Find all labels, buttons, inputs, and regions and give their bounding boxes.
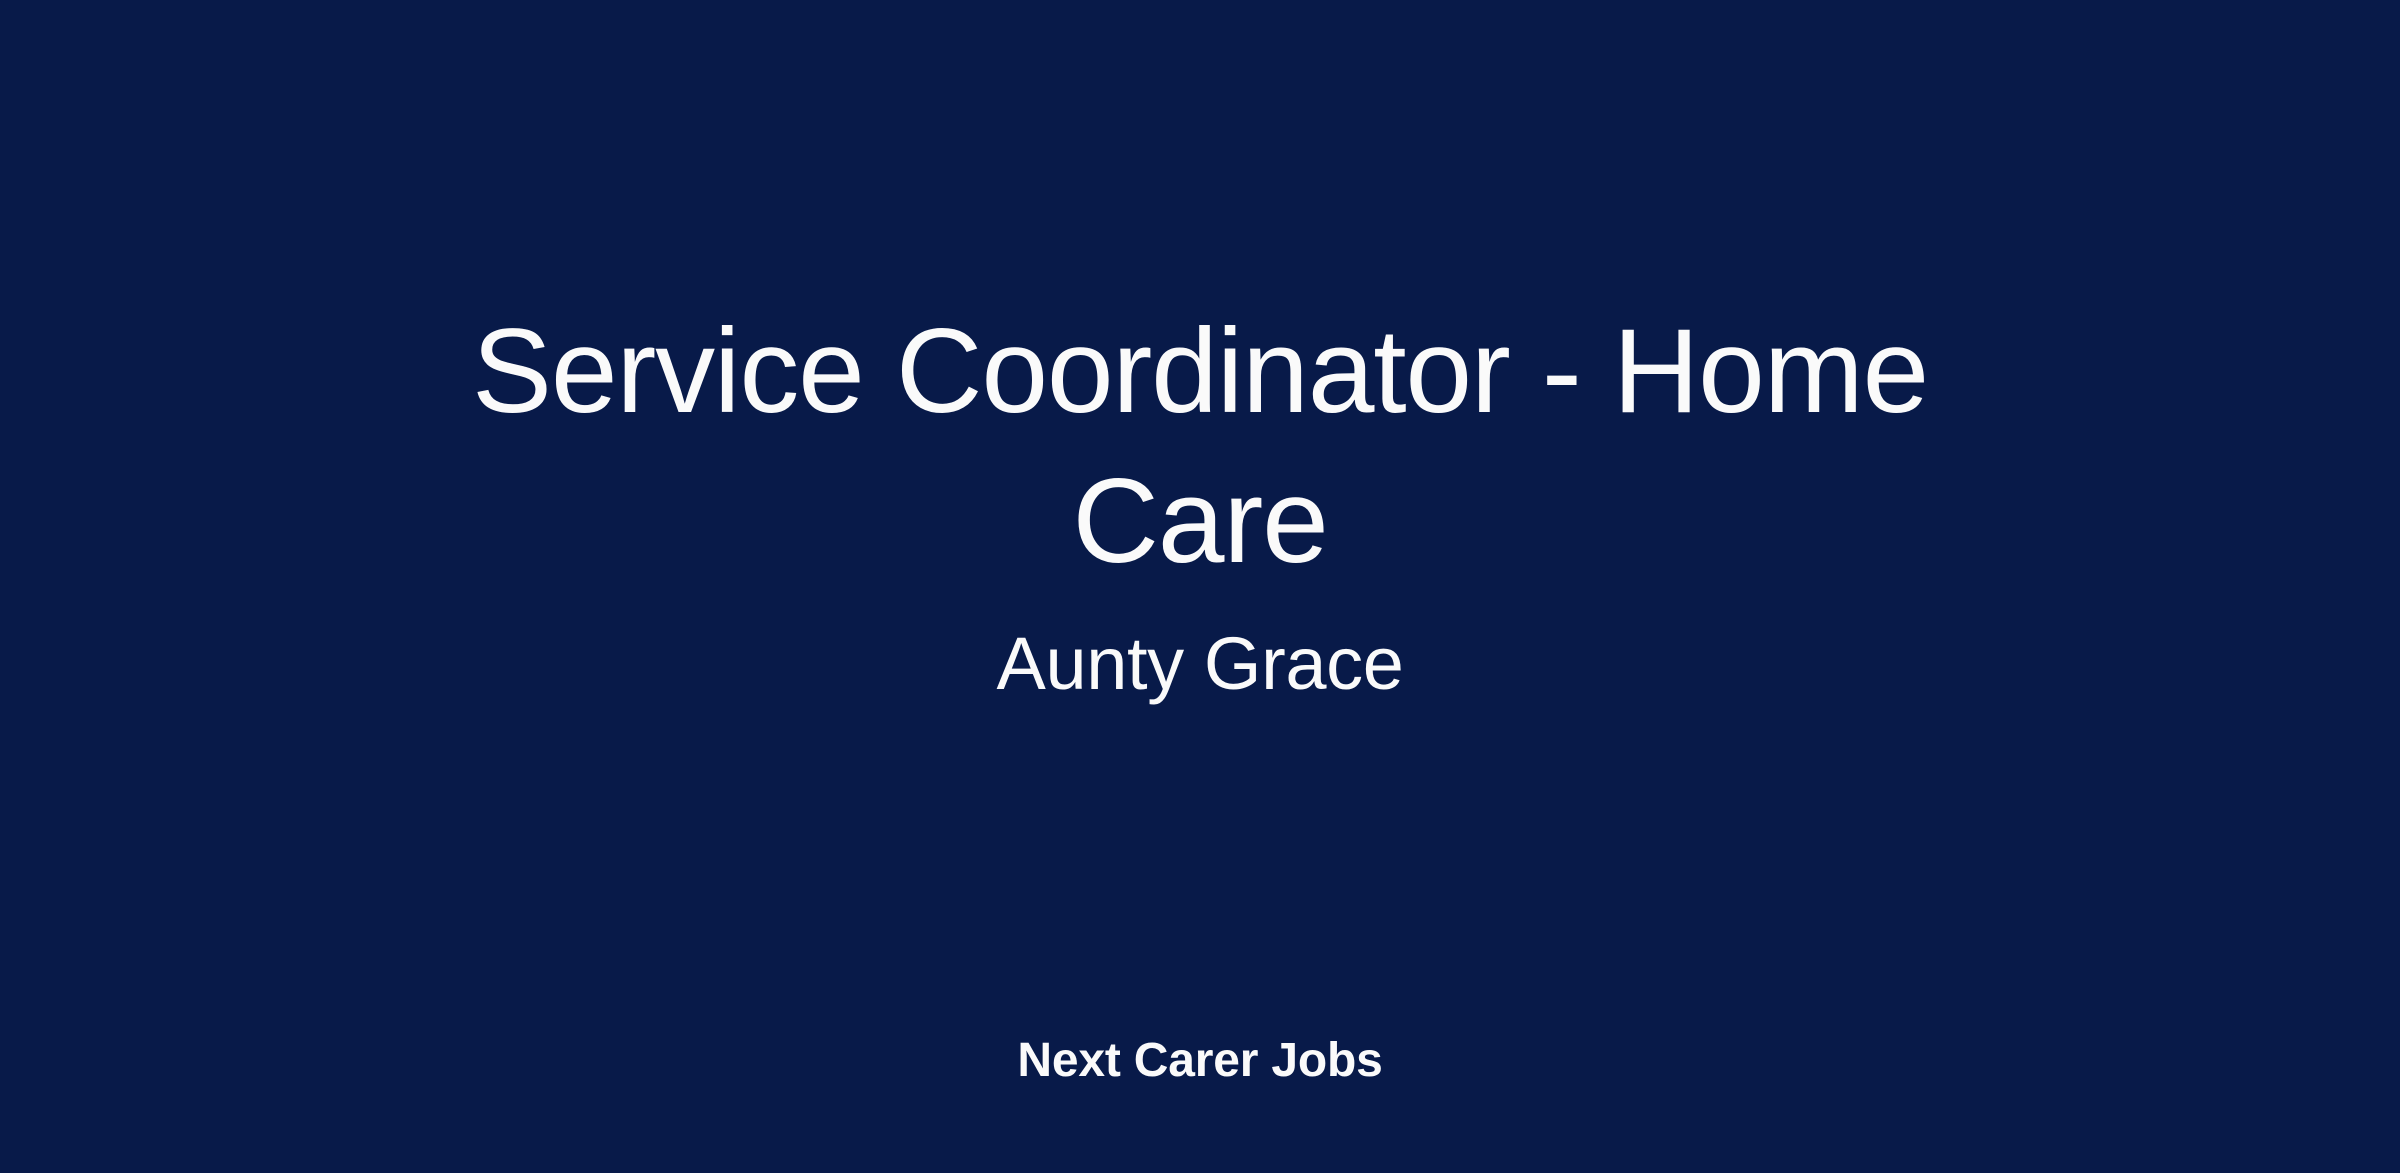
- employer-name: Aunty Grace: [997, 596, 1404, 710]
- heading-block: Service Coordinator - Home Care Aunty Gr…: [0, 296, 2400, 710]
- page-title: Service Coordinator - Home Care: [430, 296, 1970, 596]
- brand-name: Next Carer Jobs: [1017, 1030, 1382, 1092]
- job-share-card: Service Coordinator - Home Care Aunty Gr…: [0, 0, 2400, 1173]
- brand-footer: Next Carer Jobs: [0, 1030, 2400, 1092]
